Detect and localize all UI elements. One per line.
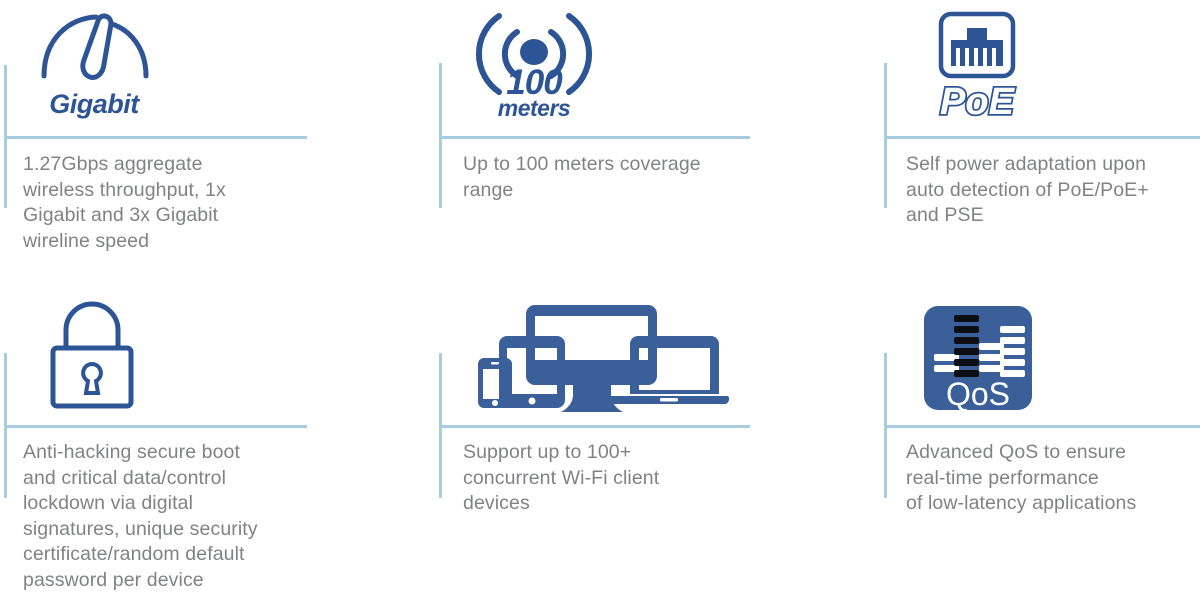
card-horizontal-rule [4,136,307,139]
feature-row-bottom: Anti-hacking secure boot and critical da… [0,290,1200,594]
icon-area [0,290,430,426]
laptop-trackpad [660,398,678,402]
phone-speaker [491,362,499,365]
tablet-home-button [529,398,536,405]
multi-device-icon [478,302,728,412]
icon-area: PoE [880,0,1200,136]
qos-equalizer-icon: QoS [924,306,1032,410]
feature-card-clients: Support up to 100+ concurrent Wi-Fi clie… [436,290,870,594]
card-horizontal-rule [884,136,1200,139]
feature-card-security: Anti-hacking secure boot and critical da… [0,290,430,594]
padlock-body [53,348,131,406]
padlock-icon [44,302,140,414]
feature-caption: Anti-hacking secure boot and critical da… [23,440,323,593]
padlock-shackle [66,304,118,350]
gigabit-arch-icon: Gigabit [30,8,160,118]
feature-card-qos: QoS Advanced QoS to ensure real-time per… [880,290,1200,594]
phone-home-button [492,400,498,406]
feature-grid: Gigabit 1.27Gbps aggregate wireless thro… [0,0,1200,594]
feature-caption: Advanced QoS to ensure real-time perform… [906,440,1200,517]
qos-wordmark: QoS [946,376,1010,412]
wifi-center-dot [520,39,548,65]
feature-row-top: Gigabit 1.27Gbps aggregate wireless thro… [0,0,1200,290]
feature-card-gigabit: Gigabit 1.27Gbps aggregate wireless thro… [0,0,430,290]
feature-caption: Up to 100 meters coverage range [463,152,793,203]
feature-card-poe: PoE Self power adaptation upon auto dete… [880,0,1200,290]
feature-caption: Support up to 100+ concurrent Wi-Fi clie… [463,440,793,517]
coverage-unit-wordmark: meters [498,95,570,121]
feature-caption: 1.27Gbps aggregate wireless throughput, … [23,152,323,254]
wifi-signal-icon: 100 meters [469,6,599,118]
icon-area: Gigabit [0,0,430,136]
card-horizontal-rule [439,136,750,139]
padlock-keyhole [83,364,101,393]
poe-rj45-icon: PoE [925,8,1035,118]
gigabit-wordmark: Gigabit [49,89,140,119]
icon-area: QoS [880,290,1200,426]
poe-wordmark: PoE [940,81,1016,123]
icon-area [436,290,870,426]
icon-area: 100 meters [436,0,870,136]
feature-caption: Self power adaptation upon auto detectio… [906,152,1200,229]
feature-card-coverage: 100 meters Up to 100 meters coverage ran… [436,0,870,290]
